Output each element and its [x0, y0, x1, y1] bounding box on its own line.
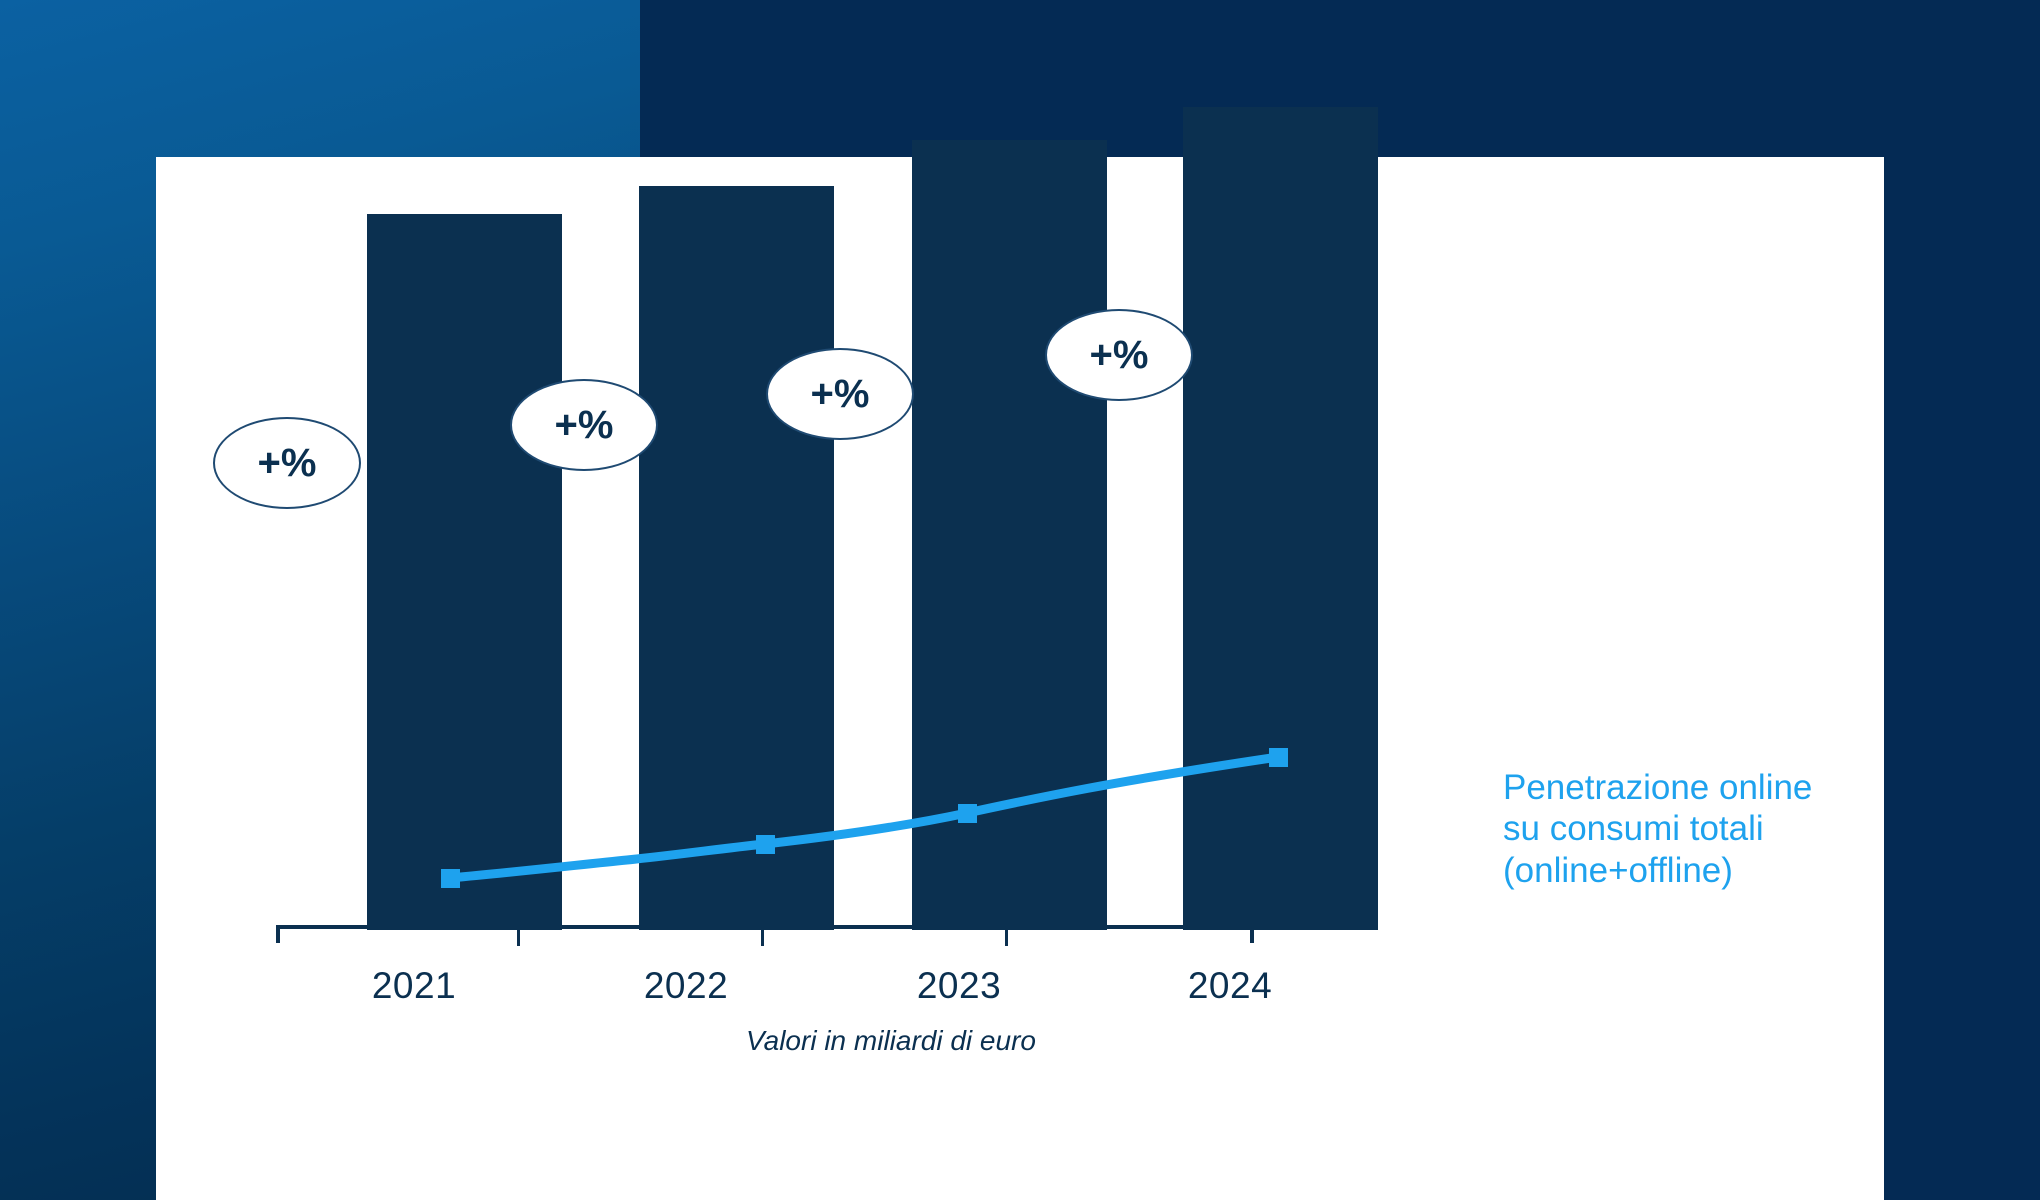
x-axis-tick-2	[761, 929, 764, 946]
bar-chart: 2021 2022 2023 2024 Valori in miliardi d…	[156, 157, 1884, 1200]
bar-2023	[912, 140, 1107, 930]
x-axis-tick-3	[1005, 929, 1008, 946]
chart-footnote: Valori in miliardi di euro	[746, 1025, 1036, 1057]
bar-2022	[639, 186, 834, 930]
x-axis-label-2024: 2024	[1150, 965, 1310, 1007]
x-axis-tick-1	[517, 929, 520, 946]
legend-penetration-label: Penetrazione online su consumi totali (o…	[1503, 767, 1843, 891]
x-axis-cap-left	[276, 925, 280, 943]
x-axis-label-2023: 2023	[879, 965, 1039, 1007]
x-axis-label-2021: 2021	[334, 965, 494, 1007]
growth-badge-2022: +%	[510, 379, 658, 471]
growth-badge-2024: +%	[1045, 309, 1193, 401]
x-axis-label-2022: 2022	[606, 965, 766, 1007]
chart-card: 2021 2022 2023 2024 Valori in miliardi d…	[156, 157, 1884, 1200]
x-axis-line	[276, 925, 1254, 929]
growth-badge-2021: +%	[213, 417, 361, 509]
growth-badge-2023: +%	[766, 348, 914, 440]
bar-2021	[367, 214, 562, 930]
slide-canvas: 2021 2022 2023 2024 Valori in miliardi d…	[0, 0, 2040, 1200]
x-axis-cap-right	[1250, 925, 1254, 943]
bar-2024	[1183, 107, 1378, 930]
